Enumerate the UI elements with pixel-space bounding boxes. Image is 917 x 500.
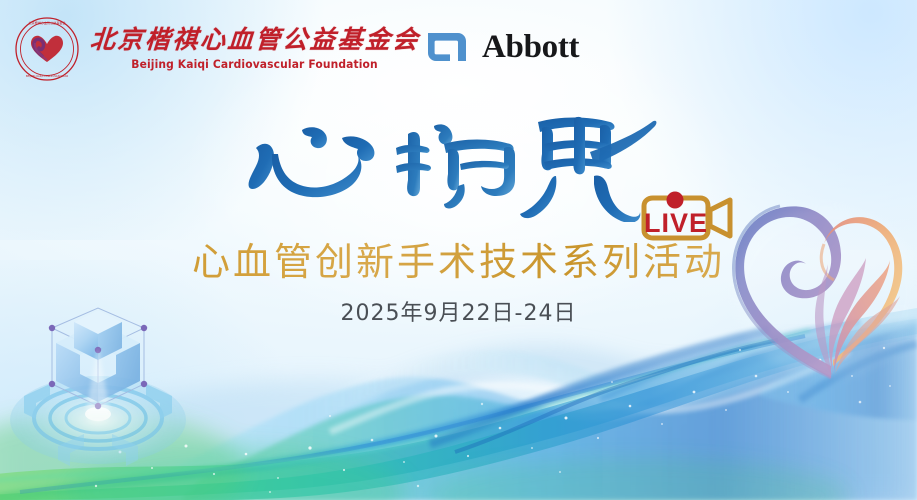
main-title-cn	[238, 92, 658, 222]
subtitle-cn: 心血管创新手术技术系列活动	[0, 231, 917, 286]
wave-green-ribbon	[0, 306, 917, 500]
wave-green-glow	[0, 412, 850, 500]
event-poster: 北京楷祺心血管公益基金会 BEIJING KAIQI CARDIOVASCULA…	[0, 0, 917, 500]
foundation-name-cn: 北京楷祺心血管公益基金会	[89, 28, 421, 53]
main-title-block	[0, 92, 917, 222]
svg-text:BEIJING KAIQI CARDIOVASCULAR: BEIJING KAIQI CARDIOVASCULAR	[26, 74, 68, 78]
wave-right-crest	[760, 326, 917, 420]
wave-light-ribbon	[300, 312, 917, 432]
sponsor-name: Abbott	[482, 29, 579, 66]
foundation-name-block: 北京楷祺心血管公益基金会 Beijing Kaiqi Cardiovascula…	[90, 28, 420, 71]
foundation-name-en: Beijing Kaiqi Cardiovascular Foundation	[132, 59, 379, 71]
abbott-a-logo-icon	[424, 27, 470, 67]
wave-blue-hill	[150, 318, 917, 500]
foundation-branding: 北京楷祺心血管公益基金会 BEIJING KAIQI CARDIOVASCULA…	[14, 16, 420, 82]
event-date: 2025年9月22日-24日	[0, 295, 917, 327]
sponsor-branding: Abbott	[424, 27, 579, 67]
live-record-dot-icon	[667, 192, 684, 209]
wave-deep-blue-swirl	[430, 322, 860, 452]
sparkle-particles	[95, 347, 891, 493]
svg-text:北京楷祺心血管公益基金会: 北京楷祺心血管公益基金会	[28, 20, 65, 25]
wave-mist	[0, 340, 917, 500]
poster-header: 北京楷祺心血管公益基金会 BEIJING KAIQI CARDIOVASCULA…	[0, 0, 917, 95]
foundation-seal-heart-icon: 北京楷祺心血管公益基金会 BEIJING KAIQI CARDIOVASCULA…	[14, 16, 80, 82]
isometric-medical-cross-icon	[10, 308, 186, 466]
